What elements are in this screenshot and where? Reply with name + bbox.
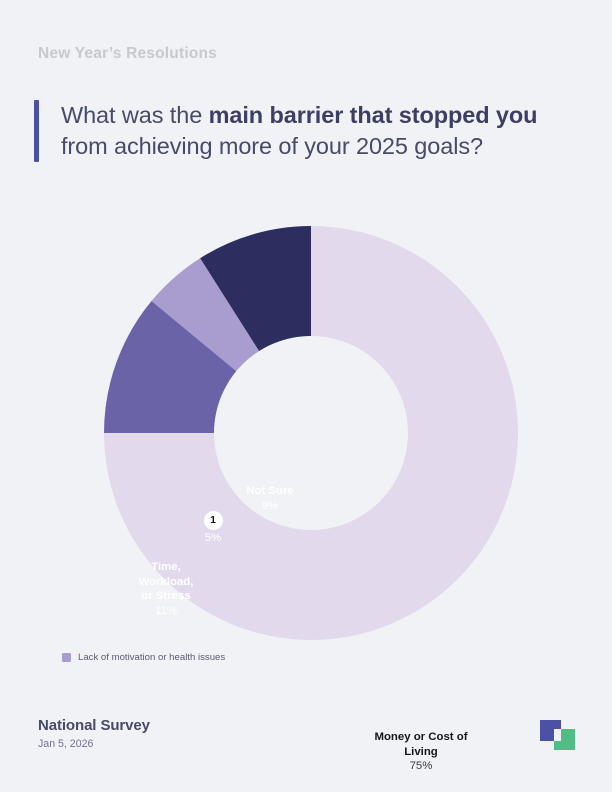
eyebrow-label: New Year’s Resolutions — [38, 45, 217, 63]
headline-line-2: from achieving more of your 2025 goals? — [61, 131, 537, 162]
chart-legend: Lack of motivation or health issues — [62, 652, 225, 663]
footer-date: Jan 5, 2026 — [38, 738, 93, 750]
page-title: What was the main barrier that stopped y… — [61, 100, 537, 162]
footer-source-title: National Survey — [38, 717, 150, 734]
accent-bar — [34, 100, 39, 162]
infographic-page: New Year’s Resolutions What was the main… — [0, 0, 612, 792]
headline-part-1: What was the — [61, 102, 209, 128]
donut-chart-svg — [103, 225, 519, 641]
slice-label-money: Money or Cost of Living 75% — [353, 730, 489, 774]
legend-label-motivation: Lack of motivation or health issues — [78, 652, 225, 663]
footnote-badge-1[interactable]: 1 — [204, 511, 223, 530]
headline-emphasis: main barrier that stopped you — [209, 102, 538, 128]
brand-logo-icon — [540, 717, 578, 753]
slice-label-motivation-value: 5% — [180, 532, 246, 544]
slice-label-money-line-1: Money or Cost of — [353, 730, 489, 745]
slice-label-money-line-2: Living — [353, 745, 489, 760]
legend-swatch-motivation — [62, 653, 71, 662]
donut-hole — [214, 336, 408, 530]
slice-label-money-value: 75% — [353, 759, 489, 774]
logo-notch — [554, 729, 561, 741]
donut-chart: Not Sure 9% 1 5% Time, Workload, or Stre… — [0, 215, 612, 665]
headline-block: What was the main barrier that stopped y… — [34, 100, 537, 162]
slice-label-motivation: 1 5% — [180, 511, 246, 544]
